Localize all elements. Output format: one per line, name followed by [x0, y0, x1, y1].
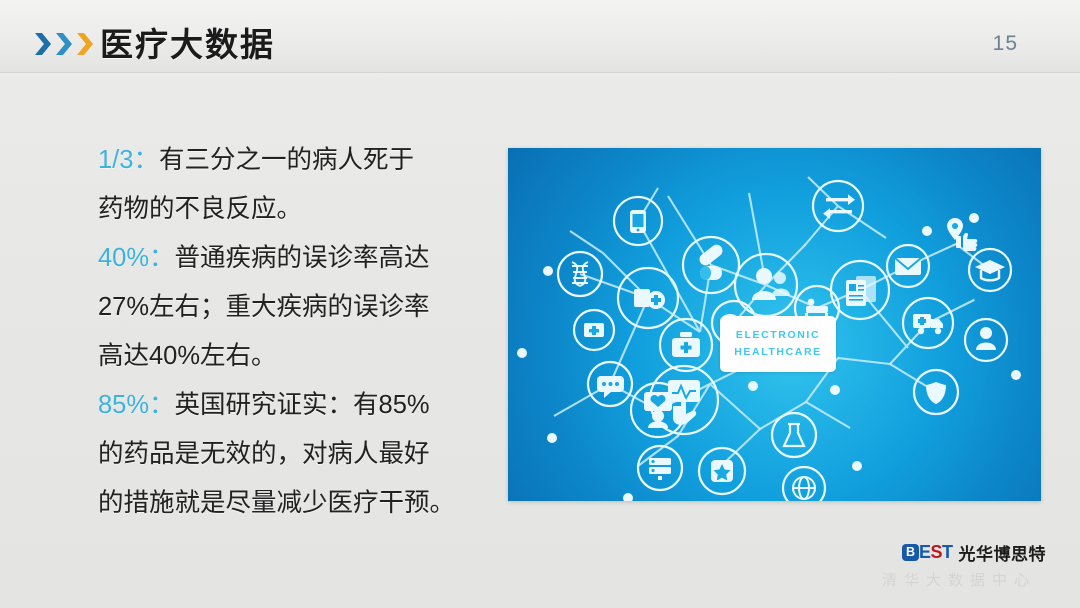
- text-line: 的药品是无效的，对病人最好: [98, 430, 478, 479]
- chevron-right-icon-1: [33, 31, 52, 57]
- page-title: 医疗大数据: [100, 18, 275, 66]
- stat-text: 的措施就是尽量减少医疗干预。: [98, 489, 455, 517]
- chevron-right-icon-2: [54, 31, 73, 57]
- text-line: 高达40%左右。: [98, 332, 478, 381]
- body-text-block: 1/3：有三分之一的病人死于 药物的不良反应。 40%：普通疾病的误诊率高达 2…: [98, 136, 478, 528]
- chevron-group: [33, 30, 103, 58]
- medical-cross-icon: [634, 289, 665, 309]
- chat-bubble-icon: [597, 376, 624, 398]
- people-group-icon: [752, 268, 790, 300]
- stat-text: 药物的不良反应。: [98, 195, 302, 223]
- text-line: 药物的不良反应。: [98, 185, 478, 234]
- logo-letter-b: B: [902, 544, 919, 561]
- envelope-icon: [895, 258, 921, 275]
- text-line: 40%：普通疾病的误诊率高达: [98, 234, 478, 283]
- slide: 医疗大数据 15 1/3：有三分之一的病人死于 药物的不良反应。 40%：普通疾…: [0, 0, 1080, 608]
- watermark-text: 清华大数据中心: [882, 569, 1036, 590]
- documents-icon: [846, 276, 876, 306]
- node-www-globe: [783, 467, 825, 501]
- text-line: 1/3：有三分之一的病人死于: [98, 136, 478, 185]
- logo-letter-t: T: [942, 542, 953, 563]
- stat-text: 27%左右；重大疾病的误诊率: [98, 293, 430, 321]
- logo-letter-e: E: [919, 542, 931, 563]
- lab-flask-icon: [784, 424, 804, 446]
- text-line: 85%：英国研究证实：有85%: [98, 381, 478, 430]
- shield-icon: [926, 382, 946, 404]
- stat-text: 高达40%左右。: [98, 342, 277, 370]
- chevron-right-icon-3: [75, 31, 94, 57]
- node-lab-flask: [772, 413, 816, 457]
- user-heart-icon: [644, 392, 672, 428]
- first-aid-kit-icon: [672, 332, 700, 357]
- mobile-phone-icon: [630, 210, 646, 233]
- healthcare-network-figure: ELECTRONIC HEALTHCARE: [508, 148, 1041, 501]
- star-badge-icon: [711, 460, 733, 482]
- stat-text: 普通疾病的误诊率高达: [175, 244, 430, 272]
- stat-text: 的药品是无效的，对病人最好: [98, 440, 430, 468]
- medical-kit-icon: [584, 323, 604, 337]
- stat-label: 85%：: [98, 391, 175, 419]
- brand-logo: B E S T 光华博思特: [902, 540, 1046, 565]
- server-icon: [649, 458, 671, 480]
- thumbs-up-icon: [956, 233, 977, 251]
- center-label-box: ELECTRONIC HEALTHCARE: [720, 316, 836, 372]
- stat-text: 有三分之一的病人死于: [159, 146, 414, 174]
- www-globe-icon: [793, 477, 815, 499]
- text-line: 27%左右；重大疾病的误诊率: [98, 283, 478, 332]
- node-doctor: [965, 319, 1007, 361]
- stat-text: 英国研究证实：有85%: [175, 391, 430, 419]
- center-label-line2: HEALTHCARE: [734, 344, 822, 361]
- center-label-line1: ELECTRONIC: [736, 327, 820, 344]
- doctor-icon: [976, 327, 996, 350]
- stat-label: 1/3：: [98, 146, 159, 174]
- stat-label: 40%：: [98, 244, 175, 272]
- page-number: 15: [993, 32, 1018, 56]
- logo-company-name: 光华博思特: [959, 540, 1047, 565]
- logo-letter-s: S: [930, 542, 942, 563]
- text-line: 的措施就是尽量减少医疗干预。: [98, 479, 478, 528]
- logo-mark: B E S T: [902, 542, 953, 563]
- header-divider: [0, 72, 1080, 74]
